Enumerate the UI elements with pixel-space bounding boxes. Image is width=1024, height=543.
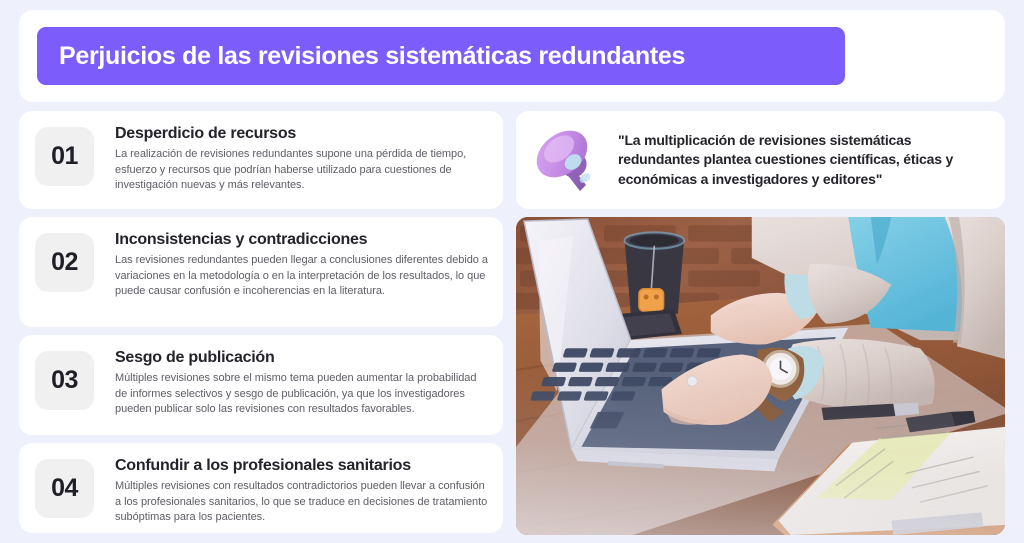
item-description: Múltiples revisiones con resultados cont… — [115, 479, 489, 526]
header-card: Perjuicios de las revisiones sistemática… — [19, 10, 1005, 102]
content-columns: 01 Desperdicio de recursos La realizació… — [19, 111, 1005, 535]
item-number: 03 — [51, 366, 78, 395]
item-number: 02 — [51, 248, 78, 277]
item-body: Inconsistencias y contradicciones Las re… — [115, 229, 489, 300]
item-body: Confundir a los profesionales sanitarios… — [115, 455, 489, 526]
list-item: 02 Inconsistencias y contradicciones Las… — [19, 217, 503, 327]
megaphone-icon — [528, 121, 606, 199]
item-body: Desperdicio de recursos La realización d… — [115, 123, 489, 194]
item-body: Sesgo de publicación Múltiples revisione… — [115, 347, 489, 418]
item-description: Las revisiones redundantes pueden llegar… — [115, 253, 489, 300]
list-item: 01 Desperdicio de recursos La realizació… — [19, 111, 503, 209]
item-number-badge: 02 — [35, 233, 94, 292]
items-column: 01 Desperdicio de recursos La realizació… — [19, 111, 503, 535]
media-column: "La multiplicación de revisiones sistemá… — [516, 111, 1005, 535]
quote-text: "La multiplicación de revisiones sistemá… — [618, 131, 991, 190]
list-item: 04 Confundir a los profesionales sanitar… — [19, 443, 503, 533]
list-item: 03 Sesgo de publicación Múltiples revisi… — [19, 335, 503, 435]
item-number-badge: 01 — [35, 127, 94, 186]
item-number: 01 — [51, 142, 78, 171]
item-description: La realización de revisiones redundantes… — [115, 147, 489, 194]
item-title: Inconsistencias y contradicciones — [115, 230, 489, 250]
page-title: Perjuicios de las revisiones sistemática… — [59, 42, 685, 71]
title-banner: Perjuicios de las revisiones sistemática… — [37, 27, 845, 85]
item-title: Desperdicio de recursos — [115, 124, 489, 144]
item-number-badge: 03 — [35, 351, 94, 410]
item-number: 04 — [51, 474, 78, 503]
item-title: Sesgo de publicación — [115, 348, 489, 368]
item-number-badge: 04 — [35, 459, 94, 518]
photo-laptop-typing — [516, 217, 1005, 535]
infographic-page: Perjuicios de las revisiones sistemática… — [0, 0, 1024, 543]
item-description: Múltiples revisiones sobre el mismo tema… — [115, 371, 489, 418]
quote-card: "La multiplicación de revisiones sistemá… — [516, 111, 1005, 209]
item-title: Confundir a los profesionales sanitarios — [115, 456, 489, 476]
